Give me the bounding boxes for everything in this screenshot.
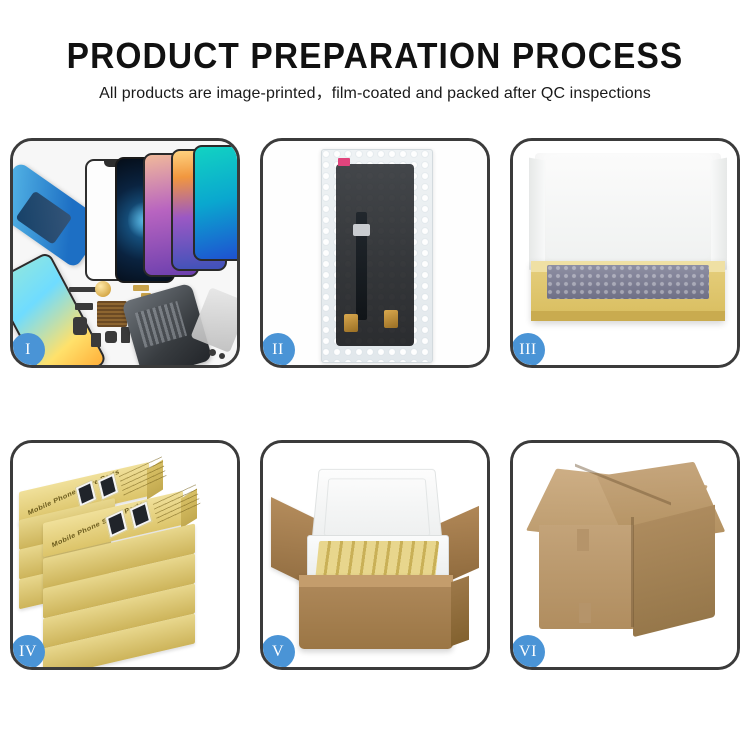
step-photo-foam-box [513, 141, 737, 365]
kraft-box-front-edge [531, 311, 725, 321]
step-badge-5: V [261, 635, 295, 669]
grey-bubble-wrap-fill [547, 265, 709, 299]
step-badge-1: I [11, 333, 45, 367]
part-flex-cable [75, 303, 93, 310]
steps-grid: I II [0, 0, 750, 750]
carton-side-face [633, 505, 715, 637]
lcd-gold-connector-right [384, 310, 398, 328]
part-camera-module [73, 317, 87, 335]
part-button [91, 333, 101, 347]
part-speaker-coil [95, 281, 111, 297]
pink-qc-label [338, 158, 350, 166]
part-screw [209, 349, 216, 356]
step-photo-sealed-carton [513, 443, 737, 667]
box-stack: Mobile Phone Spare Parts Mobile Phone Sp… [13, 443, 237, 667]
step-card-3: III [510, 138, 740, 368]
step-photo-stacked-boxes: Mobile Phone Spare Parts Mobile Phone Sp… [13, 443, 237, 667]
product-preparation-infographic: PRODUCT PREPARATION PROCESS All products… [0, 0, 750, 750]
step-card-6: VI [510, 440, 740, 670]
step-badge-4: IV [11, 635, 45, 669]
step-card-1: I [10, 138, 240, 368]
carton-body [299, 575, 453, 649]
step-badge-3: III [511, 333, 545, 367]
step-badge-2: II [261, 333, 295, 367]
step-panel-frame: III [510, 138, 740, 368]
step-panel-frame: VI [510, 440, 740, 670]
step-card-2: II [260, 138, 490, 368]
part-screw-2 [219, 353, 225, 359]
step-photo-bubble-wrapped [263, 141, 487, 365]
part-strip [69, 287, 97, 292]
lcd-flex-chip [353, 224, 370, 236]
step-card-5: V [260, 440, 490, 670]
bubble-wrap-bag [321, 149, 433, 363]
carton-corner-edge [631, 517, 634, 627]
step-card-4: Mobile Phone Spare Parts Mobile Phone Sp… [10, 440, 240, 670]
lcd-gold-connector-left [344, 314, 358, 332]
step-panel-frame: I [10, 138, 240, 368]
step-photo-product-parts [13, 141, 237, 365]
part-gold-contact [133, 285, 149, 291]
part-vibrator [105, 331, 117, 343]
step-photo-carton-packing [263, 443, 487, 667]
step-panel-frame: Mobile Phone Spare Parts Mobile Phone Sp… [10, 440, 240, 670]
step-panel-frame: V [260, 440, 490, 670]
phone-screen-teal [193, 145, 237, 261]
carton-tape-tab-bottom [579, 603, 591, 623]
part-circuit-board [97, 301, 127, 327]
step-panel-frame: II [260, 138, 490, 368]
box-print-text-lines [119, 456, 167, 498]
step-badge-6: VI [511, 635, 545, 669]
carton-tape-tab-top [577, 529, 589, 551]
